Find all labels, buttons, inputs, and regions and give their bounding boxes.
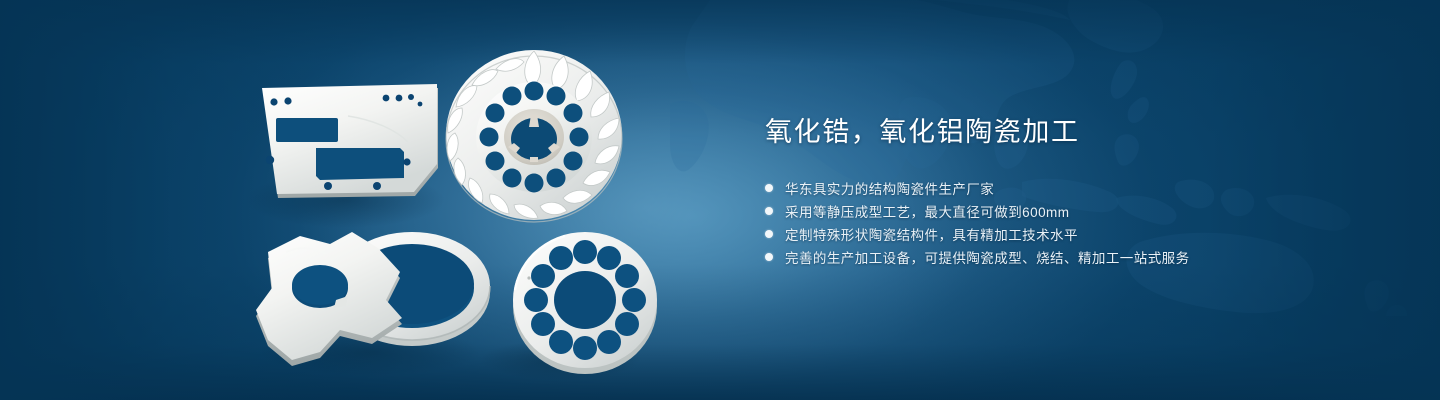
list-item-label: 采用等静压成型工艺，最大直径可做到600mm: [785, 201, 1069, 221]
ceramic-impeller: [446, 50, 622, 222]
ceramic-mounting-plate: [262, 84, 438, 198]
bullet-dot-icon: [765, 184, 773, 192]
ceramic-products-image: [0, 0, 700, 400]
ceramic-valve-plate: [513, 232, 657, 374]
feature-list: 华东具实力的结构陶瓷件生产厂家 采用等静压成型工艺，最大直径可做到600mm 定…: [765, 176, 1385, 268]
bullet-dot-icon: [765, 230, 773, 238]
list-item-label: 定制特殊形状陶瓷结构件，具有精加工技术水平: [785, 224, 1078, 244]
bullet-dot-icon: [765, 253, 773, 261]
bullet-dot-icon: [765, 207, 773, 215]
hero-banner: 氧化锆，氧化铝陶瓷加工 华东具实力的结构陶瓷件生产厂家 采用等静压成型工艺，最大…: [0, 0, 1440, 400]
list-item: 华东具实力的结构陶瓷件生产厂家: [765, 176, 1385, 199]
list-item-label: 华东具实力的结构陶瓷件生产厂家: [785, 178, 994, 198]
banner-headline: 氧化锆，氧化铝陶瓷加工: [765, 112, 1385, 152]
list-item: 定制特殊形状陶瓷结构件，具有精加工技术水平: [765, 222, 1385, 245]
list-item-label: 完善的生产加工设备，可提供陶瓷成型、烧结、精加工一站式服务: [785, 247, 1190, 267]
list-item: 完善的生产加工设备，可提供陶瓷成型、烧结、精加工一站式服务: [765, 245, 1385, 268]
banner-copy: 氧化锆，氧化铝陶瓷加工 华东具实力的结构陶瓷件生产厂家 采用等静压成型工艺，最大…: [765, 112, 1385, 268]
list-item: 采用等静压成型工艺，最大直径可做到600mm: [765, 199, 1385, 222]
